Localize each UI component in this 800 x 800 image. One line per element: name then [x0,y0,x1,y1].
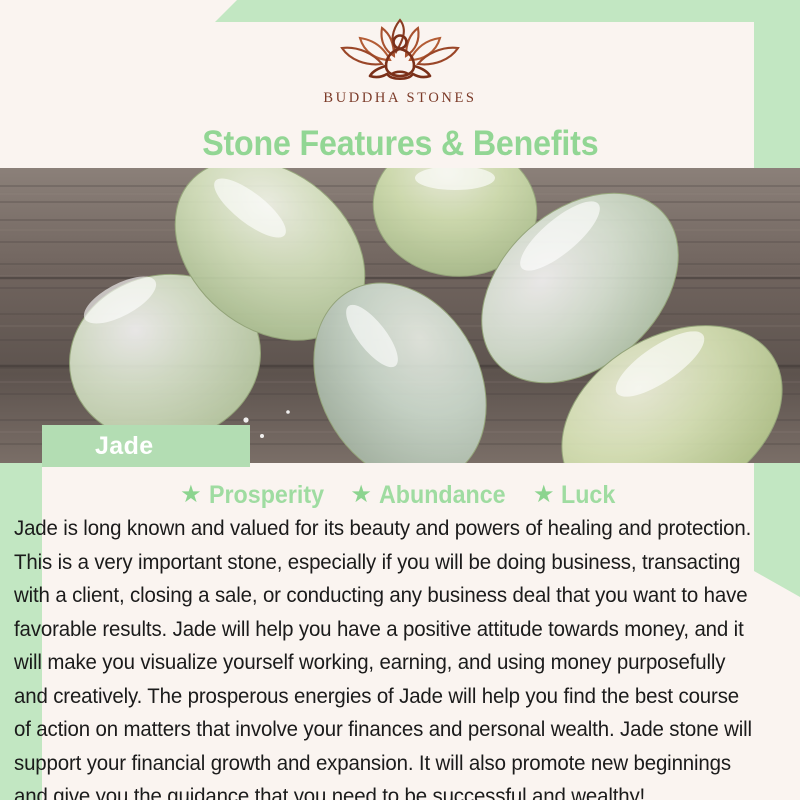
benefit-label: Abundance [379,481,506,510]
lotus-meditation-icon [320,14,480,88]
description-text: Jade is long known and valued for its be… [14,512,759,800]
title-banner: Stone Features & Benefits [40,120,760,168]
stone-name-label: Jade [42,425,250,467]
poster-root: BUDDHA STONES Stone Features & Benefits [0,0,800,800]
star-icon: ★ [533,483,555,507]
star-icon: ★ [350,483,372,507]
brand-logo: BUDDHA STONES [0,14,800,122]
photo-canvas [0,168,800,463]
benefit-item-luck: ★ Luck [533,481,620,510]
benefit-label: Prosperity [209,481,324,510]
jade-tumbled-stones-photo [0,168,800,463]
page-title: Stone Features & Benefits [202,124,598,164]
star-icon: ★ [180,483,202,507]
description-block: Jade is long known and valued for its be… [14,512,786,787]
stone-name-text: Jade [95,432,154,461]
brand-name: BUDDHA STONES [323,90,476,107]
benefit-item-prosperity: ★ Prosperity [180,481,332,510]
benefit-label: Luck [561,481,615,510]
benefits-row: ★ Prosperity ★ Abundance ★ Luck [0,480,800,510]
benefit-item-abundance: ★ Abundance [350,481,515,510]
